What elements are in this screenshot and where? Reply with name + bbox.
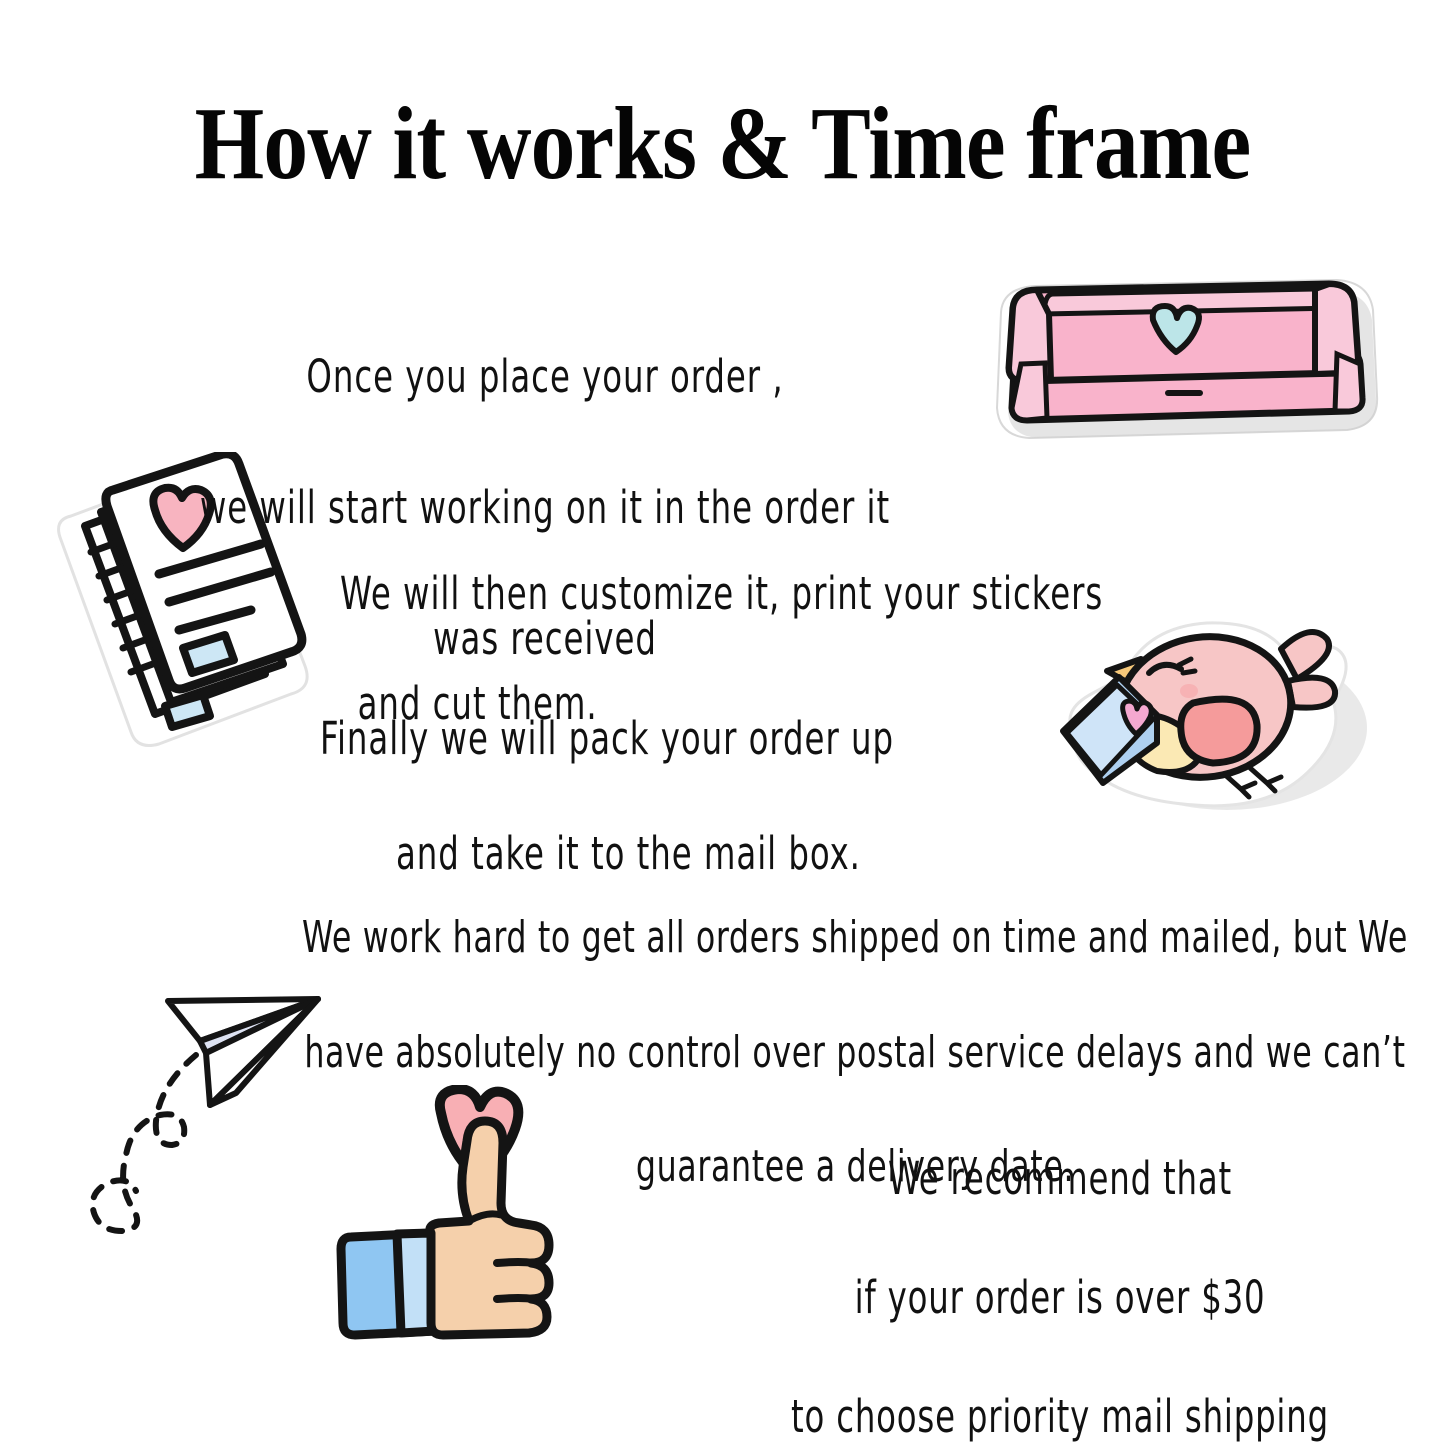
step-two-line-1: We will then customize it, print your st… bbox=[340, 567, 1148, 622]
recommendation-line-1: We recommend that bbox=[660, 1149, 1445, 1208]
recommendation-text: We recommend that if your order is over … bbox=[660, 1090, 1445, 1445]
slot-line bbox=[1165, 390, 1203, 396]
disclaimer-line-1: We work hard to get all orders shipped o… bbox=[267, 909, 1443, 966]
cheek-blush bbox=[1180, 684, 1198, 698]
cutting-machine-illustration bbox=[985, 268, 1380, 448]
page-title: How it works & Time frame bbox=[101, 92, 1344, 196]
tail-lower bbox=[1288, 678, 1335, 708]
bird-wing bbox=[1181, 699, 1257, 763]
step-one-line-1: Once you place your order , bbox=[197, 344, 893, 410]
infographic-page: How it works & Time frame bbox=[0, 0, 1445, 1445]
recommendation-line-2: if your order is over $30 bbox=[660, 1268, 1445, 1327]
pink-cutting-machine-sticker bbox=[985, 268, 1380, 448]
disclaimer-line-2: have absolutely no control over postal s… bbox=[267, 1024, 1443, 1081]
recommendation-line-3: to choose priority mail shipping bbox=[660, 1387, 1445, 1445]
plane-trail bbox=[93, 1055, 196, 1231]
step-three-line-1: Finally we will pack your order up bbox=[320, 710, 1088, 768]
